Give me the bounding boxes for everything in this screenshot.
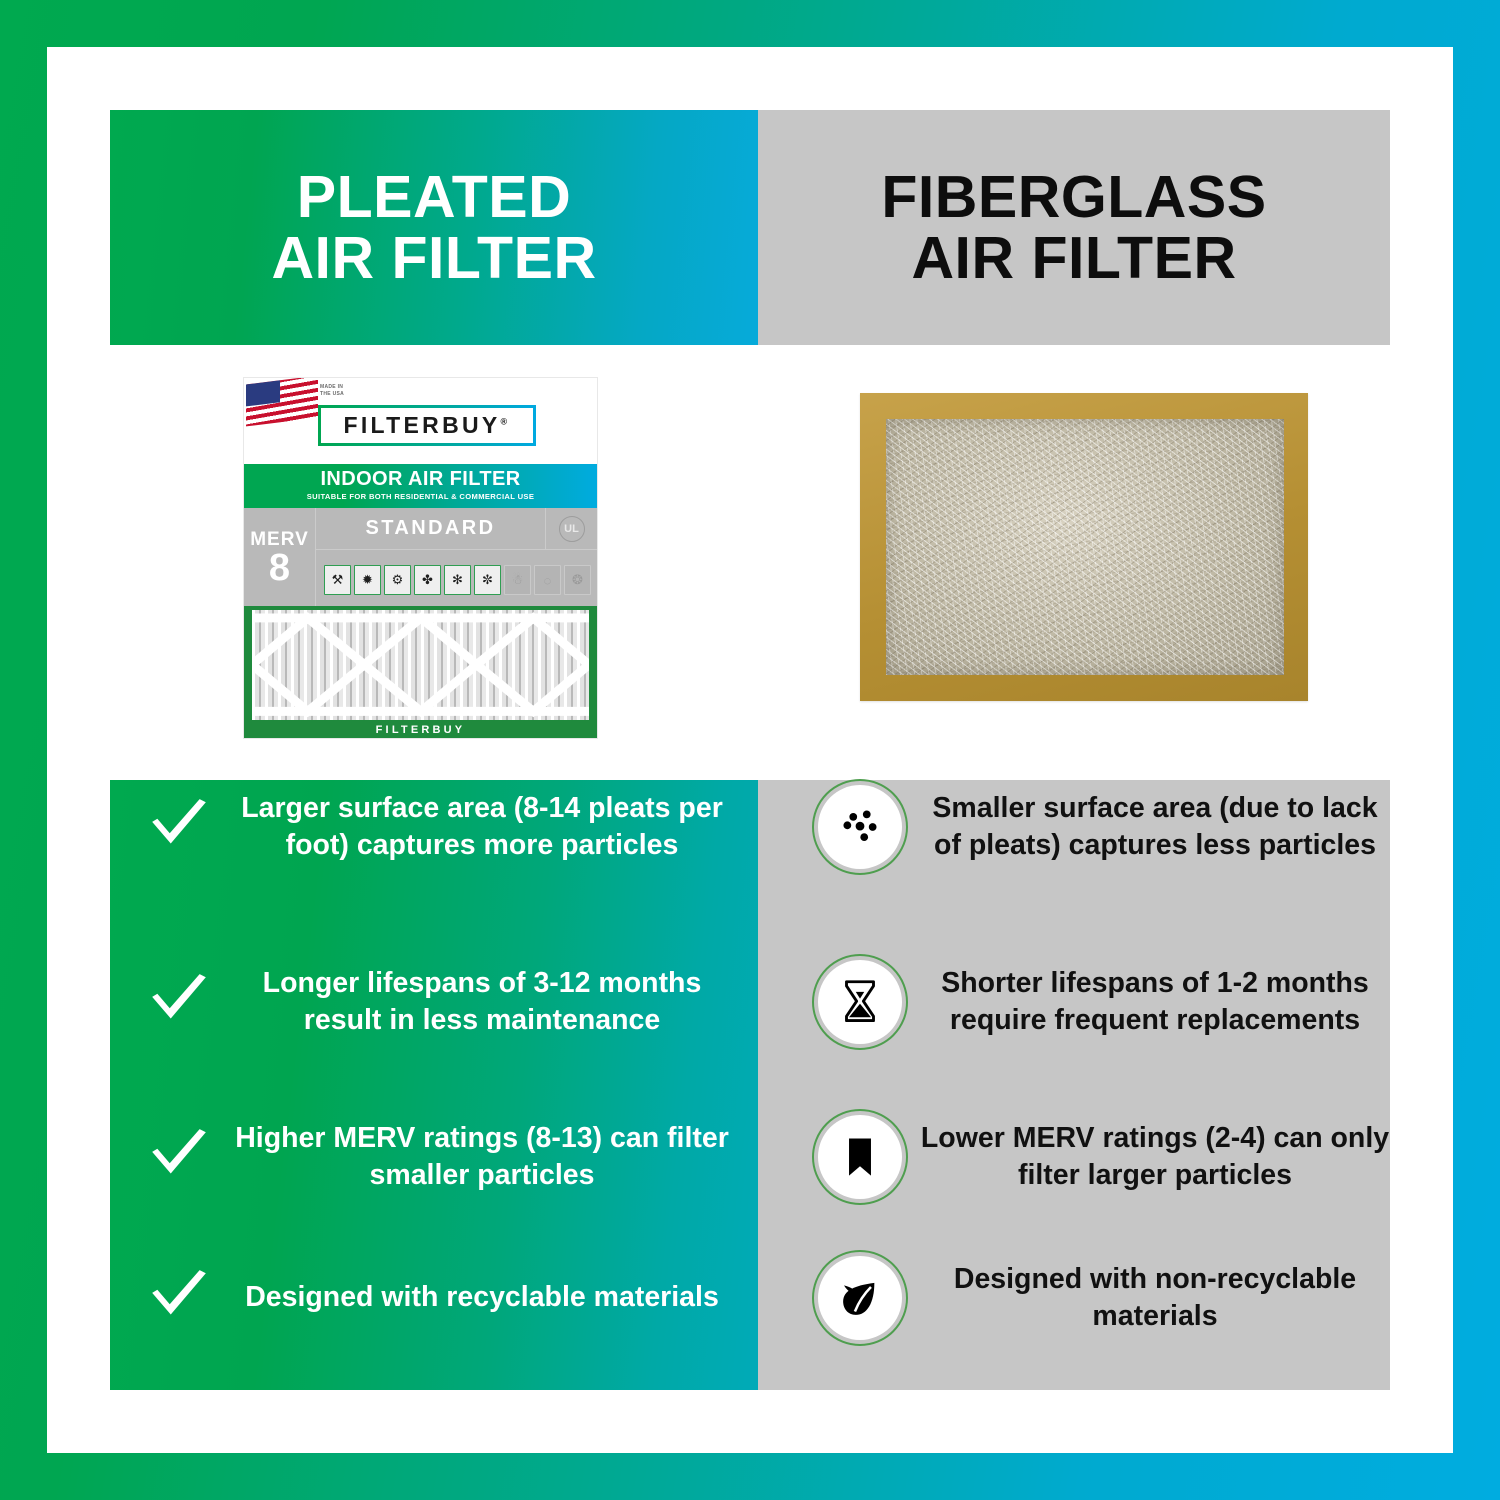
pleated-benefit-text: Higher MERV ratings (8-13) can filter sm… xyxy=(224,1120,740,1194)
pleated-benefit-cell: Longer lifespans of 3-12 months result i… xyxy=(110,965,758,1039)
merv-value: 8 xyxy=(269,551,290,586)
comparison-rows: Larger surface area (8-14 pleats per foo… xyxy=(110,780,1390,1390)
header-fiberglass-line1: FIBERGLASS xyxy=(881,164,1266,230)
smog-icon: ☃ xyxy=(504,565,531,595)
check-mark-wrapper xyxy=(140,1265,218,1331)
pleated-benefit-text: Longer lifespans of 3-12 months result i… xyxy=(224,965,740,1039)
dust-lint-icon: ⚒ xyxy=(324,565,351,595)
pleated-benefit-cell: Higher MERV ratings (8-13) can filter sm… xyxy=(110,1120,758,1194)
fiberglass-filter-product-image xyxy=(860,393,1308,701)
support-wire-pattern xyxy=(252,610,589,719)
icon-disc xyxy=(818,1256,902,1340)
bookmark-icon xyxy=(833,1130,887,1184)
check-mark-icon xyxy=(146,969,212,1035)
pleated-media-photo: FILTERBUY xyxy=(244,606,597,739)
trademark-symbol: ® xyxy=(501,416,511,426)
check-mark-wrapper xyxy=(140,969,218,1035)
hourglass-icon xyxy=(833,975,887,1029)
ul-mark-icon: UL xyxy=(559,516,585,542)
pet-dander-icon: ✼ xyxy=(474,565,501,595)
odor-icon: ❂ xyxy=(564,565,591,595)
merv-spec-right: STANDARD UL ⚒✹⚙✤✻✼☃◌❂ xyxy=(315,508,597,606)
indoor-air-filter-band: INDOOR AIR FILTER SUITABLE FOR BOTH RESI… xyxy=(244,464,597,508)
icon-disc xyxy=(818,960,902,1044)
filterbuy-footer-brand: FILTERBUY xyxy=(244,720,597,739)
header-pleated-line1: PLEATED xyxy=(297,164,571,230)
pleated-filter-product-image: MADE IN THE USA FILTERBUY® INDOOR AIR FI… xyxy=(243,377,598,739)
bacteria-icon: ✻ xyxy=(444,565,471,595)
check-mark-wrapper xyxy=(140,794,218,860)
fiberglass-drawback-text: Smaller surface area (due to lack of ple… xyxy=(920,790,1390,864)
mold-icon: ⚙ xyxy=(384,565,411,595)
usa-flag-icon xyxy=(246,377,318,426)
fiberglass-drawback-text: Shorter lifespans of 1-2 months require … xyxy=(920,965,1390,1039)
pleated-benefit-cell: Larger surface area (8-14 pleats per foo… xyxy=(110,790,758,864)
band-main-text: INDOOR AIR FILTER xyxy=(244,468,597,491)
pleated-benefit-cell: Designed with recyclable materials xyxy=(110,1265,758,1331)
check-mark-icon xyxy=(146,794,212,860)
header-fiberglass-text: FIBERGLASS AIR FILTER xyxy=(881,167,1266,287)
filterbuy-logo-box: FILTERBUY® xyxy=(318,405,536,446)
header-pleated: PLEATED AIR FILTER xyxy=(110,110,758,345)
pollen-icon: ✹ xyxy=(354,565,381,595)
header-pleated-line2: AIR FILTER xyxy=(271,228,596,288)
filterbuy-wordmark: FILTERBUY xyxy=(344,412,501,438)
icon-disc xyxy=(818,785,902,869)
comparison-section: Larger surface area (8-14 pleats per foo… xyxy=(110,780,1390,1390)
comparison-icon-badge xyxy=(812,954,908,1050)
check-mark-icon xyxy=(146,1124,212,1190)
infographic-page: PLEATED AIR FILTER FIBERGLASS AIR FILTER… xyxy=(0,0,1500,1500)
grade-row: STANDARD UL xyxy=(315,508,597,550)
header-row: PLEATED AIR FILTER FIBERGLASS AIR FILTER xyxy=(110,110,1390,345)
check-mark-wrapper xyxy=(140,1124,218,1190)
pleated-filter-label-top: MADE IN THE USA FILTERBUY® xyxy=(244,378,597,464)
filter-feature-icon-strip: ⚒✹⚙✤✻✼☃◌❂ xyxy=(315,550,597,606)
made-in-usa-text: MADE IN THE USA xyxy=(320,384,344,398)
check-mark-icon xyxy=(146,1265,212,1331)
merv-badge: MERV 8 xyxy=(244,508,315,606)
icon-disc xyxy=(818,1115,902,1199)
band-sub-text: SUITABLE FOR BOTH RESIDENTIAL & COMMERCI… xyxy=(244,492,597,501)
grade-label: STANDARD xyxy=(316,517,545,540)
comparison-icon-badge xyxy=(812,1250,908,1346)
header-pleated-text: PLEATED AIR FILTER xyxy=(271,167,596,287)
leaf-icon xyxy=(833,1271,887,1325)
product-image-row: MADE IN THE USA FILTERBUY® INDOOR AIR FI… xyxy=(110,345,1390,780)
filterbuy-logo-text: FILTERBUY® xyxy=(344,412,511,439)
particles-icon xyxy=(833,800,887,854)
fiberglass-mesh-texture xyxy=(886,419,1284,675)
virus-icon: ◌ xyxy=(534,565,561,595)
smoke-icon: ✤ xyxy=(414,565,441,595)
header-fiberglass: FIBERGLASS AIR FILTER xyxy=(758,110,1390,345)
comparison-icon-badge xyxy=(812,1109,908,1205)
merv-spec-panel: MERV 8 STANDARD UL ⚒✹⚙✤✻✼☃◌❂ xyxy=(244,508,597,606)
fiberglass-drawback-text: Lower MERV ratings (2-4) can only filter… xyxy=(920,1120,1390,1194)
ul-listed-mark: UL xyxy=(545,508,597,549)
fiberglass-drawback-text: Designed with non-recyclable materials xyxy=(920,1261,1390,1335)
comparison-icon-badge xyxy=(812,779,908,875)
pleated-benefit-text: Larger surface area (8-14 pleats per foo… xyxy=(224,790,740,864)
header-fiberglass-line2: AIR FILTER xyxy=(881,228,1266,288)
pleated-benefit-text: Designed with recyclable materials xyxy=(224,1279,740,1316)
